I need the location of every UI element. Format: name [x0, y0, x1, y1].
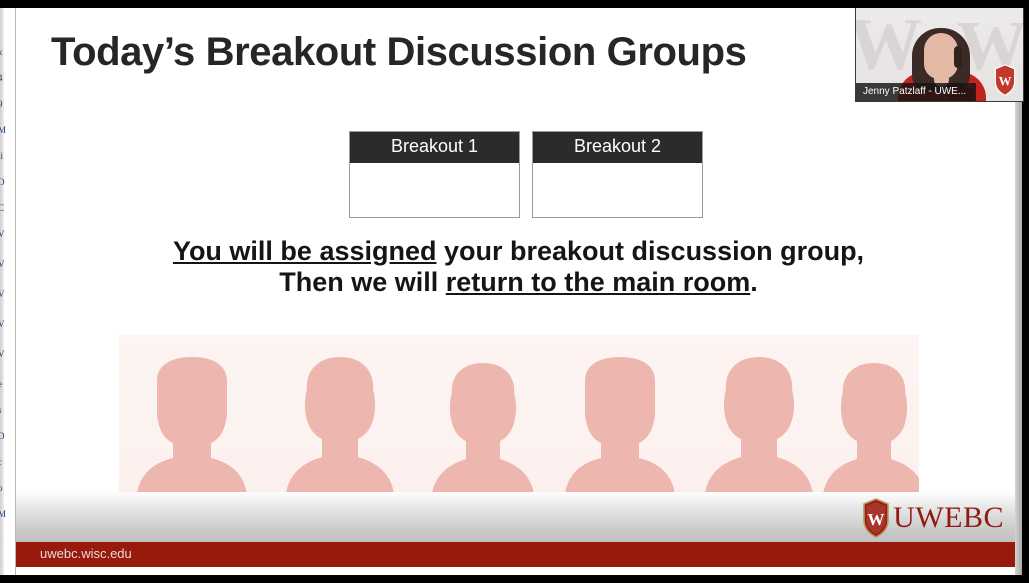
body-emphasis-return: return to the main room [446, 267, 751, 297]
letterbox-bottom [0, 575, 1029, 583]
sliver-text-line: V [0, 350, 16, 359]
sliver-text-line: V [0, 260, 16, 269]
headset-icon [954, 46, 962, 68]
sliver-text-line: e [0, 380, 16, 389]
svg-text:W: W [868, 510, 885, 529]
breakout-2-header: Breakout 2 [533, 132, 702, 163]
uw-crest-svg: W [861, 498, 891, 538]
screen-share-view: x 4 9 M li D C V V V V V e s D c o M i i… [0, 0, 1029, 583]
sliver-text-line: V [0, 320, 16, 329]
background-window-sliver[interactable]: x 4 9 M li D C V V V V V e s D c o M i i [0, 8, 16, 575]
uwebc-wordmark: UWEBC [893, 503, 1004, 533]
svg-text:W: W [999, 75, 1012, 89]
slide-footer-bar: uwebc.wisc.edu [16, 542, 1022, 567]
sliver-text-line: D [0, 178, 16, 187]
sliver-text-line: i [0, 560, 16, 569]
sliver-text-line: x [0, 48, 16, 57]
body-line2-suffix: . [750, 267, 758, 297]
sliver-text-line: V [0, 230, 16, 239]
breakout-table-1: Breakout 1 [349, 131, 520, 218]
body-line1-rest: your breakout discussion group, [437, 236, 865, 266]
breakout-table-2: Breakout 2 [532, 131, 703, 218]
body-line2-prefix: Then we will [279, 267, 446, 297]
uw-crest-icon: W [861, 498, 891, 538]
sliver-text-line: V [0, 290, 16, 299]
page-title: Today’s Breakout Discussion Groups [51, 30, 746, 75]
participant-video-tile[interactable]: W W W Jenny Patzlaff - UWE... [855, 5, 1024, 102]
sliver-text-line: i [0, 536, 16, 545]
slide-body-text: You will be assigned your breakout discu… [56, 236, 981, 298]
body-emphasis-assigned: You will be assigned [173, 236, 437, 266]
sliver-text-line: li [0, 152, 16, 161]
participant-name-label: Jenny Patzlaff - UWE... [856, 83, 976, 101]
footer-url: uwebc.wisc.edu [40, 546, 132, 561]
sliver-text-line: D [0, 432, 16, 441]
breakout-2-body [533, 163, 702, 217]
sliver-text-line: c [0, 458, 16, 467]
sliver-text-line: s [0, 406, 16, 415]
uwebc-logo: W UWEBC [861, 497, 1004, 539]
uw-crest-icon: W [993, 64, 1017, 96]
sliver-text-line: 4 [0, 74, 16, 83]
sliver-text-line: C [0, 204, 16, 213]
sliver-text-line: M [0, 126, 16, 135]
breakout-1-header: Breakout 1 [350, 132, 519, 163]
sliver-text-line: o [0, 484, 16, 493]
letterbox-top [0, 0, 1029, 8]
sliver-text-line: M [0, 510, 16, 519]
body-line2: Then we will return to the main room. [56, 267, 981, 298]
breakout-1-body [350, 163, 519, 217]
sliver-text-line: 9 [0, 100, 16, 109]
